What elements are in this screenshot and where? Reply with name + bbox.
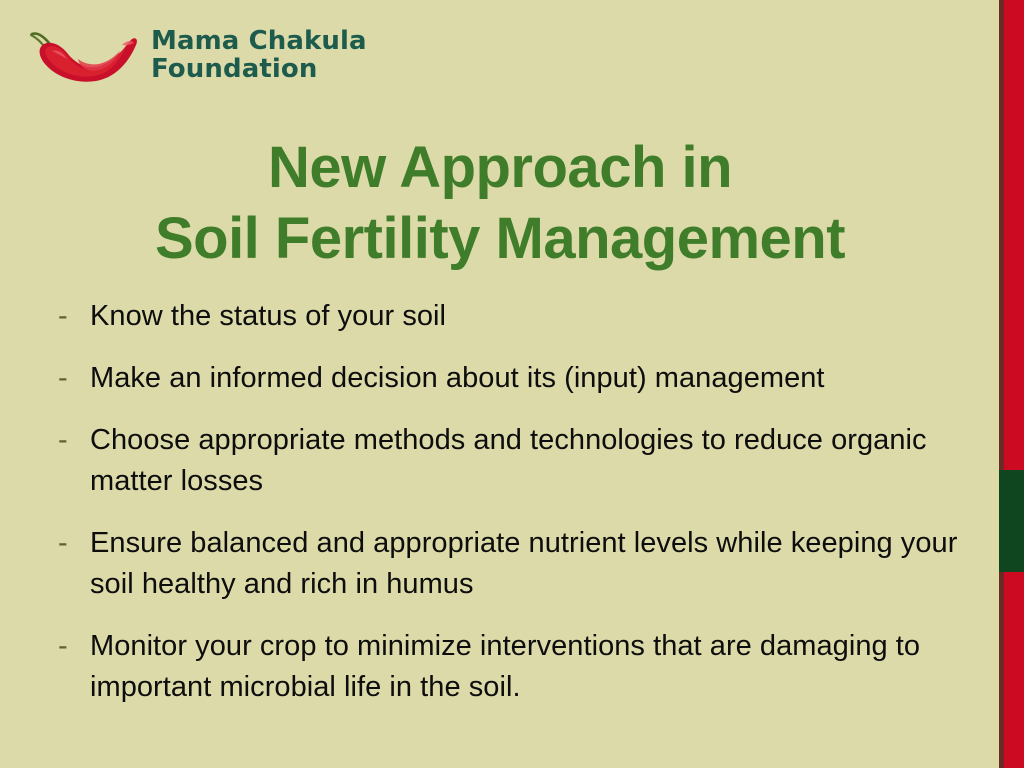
bullet-dash-icon: - — [52, 420, 90, 461]
chili-pepper-icon — [18, 18, 143, 90]
list-item: - Choose appropriate methods and technol… — [52, 420, 982, 502]
list-item-text: Make an informed decision about its (inp… — [90, 358, 982, 399]
list-item: - Know the status of your soil — [52, 296, 982, 337]
list-item: - Monitor your crop to minimize interven… — [52, 626, 982, 708]
list-item: - Ensure balanced and appropriate nutrie… — [52, 523, 982, 605]
presentation-slide: Mama Chakula Foundation New Approach in … — [0, 0, 1024, 768]
edge-stripe-red — [1004, 0, 1024, 768]
list-item-text: Know the status of your soil — [90, 296, 982, 337]
slide-title-line-2: Soil Fertility Management — [0, 204, 1000, 275]
logo-text-line-1: Mama Chakula — [151, 27, 367, 55]
list-item-text: Choose appropriate methods and technolog… — [90, 420, 982, 502]
bullet-list: - Know the status of your soil - Make an… — [52, 296, 982, 729]
bullet-dash-icon: - — [52, 296, 90, 337]
edge-stripe-green-accent — [999, 470, 1024, 572]
organization-logo: Mama Chakula Foundation — [18, 18, 367, 90]
logo-text-line-2: Foundation — [151, 55, 367, 83]
bullet-dash-icon: - — [52, 626, 90, 667]
bullet-dash-icon: - — [52, 523, 90, 564]
slide-title-line-1: New Approach in — [0, 133, 1000, 204]
slide-title: New Approach in Soil Fertility Managemen… — [0, 133, 1000, 275]
list-item-text: Monitor your crop to minimize interventi… — [90, 626, 982, 708]
list-item: - Make an informed decision about its (i… — [52, 358, 982, 399]
list-item-text: Ensure balanced and appropriate nutrient… — [90, 523, 982, 605]
bullet-dash-icon: - — [52, 358, 90, 399]
